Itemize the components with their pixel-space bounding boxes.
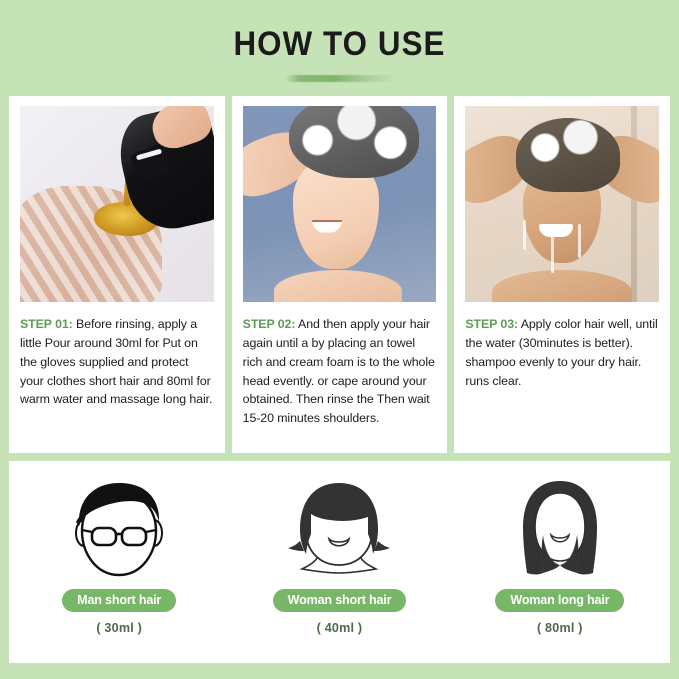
shoulder-shape bbox=[492, 270, 632, 302]
hair-type-label-man-short: Man short hair bbox=[62, 589, 176, 612]
step-label-2: STEP 02: bbox=[243, 317, 296, 331]
hair-type-volume-woman-short: ( 40ml ) bbox=[317, 621, 363, 635]
shower-wall-line bbox=[631, 106, 637, 302]
title-underline-bar bbox=[286, 75, 394, 82]
step-text-2: STEP 02: And then apply your hair again … bbox=[243, 315, 437, 428]
woman-rinsing-hair-shower-photo bbox=[465, 106, 659, 302]
wet-hair-foam-shape bbox=[516, 118, 620, 192]
step-card-1: STEP 01: Before rinsing, apply a little … bbox=[9, 96, 225, 453]
step-card-3: STEP 03: Apply color hair well, until th… bbox=[454, 96, 670, 453]
water-drop bbox=[523, 220, 526, 250]
header: HOW TO USE bbox=[0, 0, 679, 82]
hair-type-label-woman-long: Woman long hair bbox=[495, 589, 624, 612]
hair-type-woman-short: Woman short hair ( 40ml ) bbox=[229, 461, 449, 635]
step-label-3: STEP 03: bbox=[465, 317, 518, 331]
pouring-oil-with-gloves-photo bbox=[20, 106, 214, 302]
smile-shape bbox=[539, 224, 573, 237]
hair-type-volume-man-short: ( 30ml ) bbox=[96, 621, 142, 635]
water-drop bbox=[578, 224, 581, 258]
page-title: HOW TO USE bbox=[27, 27, 652, 61]
hair-type-volume-woman-long: ( 80ml ) bbox=[537, 621, 583, 635]
foam-shape bbox=[289, 106, 419, 178]
step-text-3: STEP 03: Apply color hair well, until th… bbox=[465, 315, 659, 390]
hair-type-label-woman-short: Woman short hair bbox=[273, 589, 407, 612]
man-short-hair-icon bbox=[60, 477, 178, 585]
woman-long-hair-icon bbox=[501, 477, 619, 585]
woman-lathering-hair-photo bbox=[243, 106, 437, 302]
hair-type-panel: Man short hair ( 30ml ) Woman short hair… bbox=[9, 461, 670, 663]
woman-short-hair-icon bbox=[280, 477, 398, 585]
step-text-1: STEP 01: Before rinsing, apply a little … bbox=[20, 315, 214, 409]
steps-row: STEP 01: Before rinsing, apply a little … bbox=[9, 96, 670, 453]
step-body-2: And then apply your hair again until a b… bbox=[243, 317, 435, 425]
how-to-use-infographic: HOW TO USE STEP 01: Before rinsing, appl… bbox=[0, 0, 679, 679]
shoulder-shape bbox=[274, 270, 402, 302]
step-label-1: STEP 01: bbox=[20, 317, 73, 331]
water-drop bbox=[551, 235, 554, 273]
step-card-2: STEP 02: And then apply your hair again … bbox=[232, 96, 448, 453]
hair-type-woman-long: Woman long hair ( 80ml ) bbox=[450, 461, 670, 635]
hair-type-man-short: Man short hair ( 30ml ) bbox=[9, 461, 229, 635]
